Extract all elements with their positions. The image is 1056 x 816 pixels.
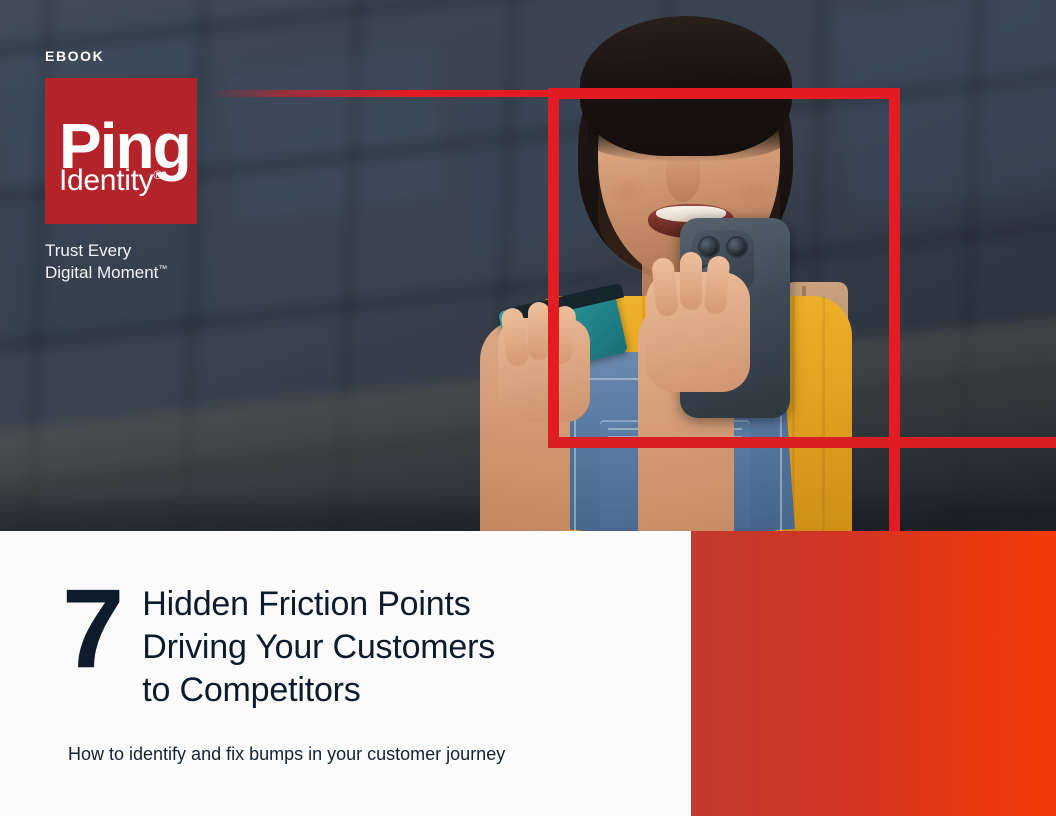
tagline-line-1: Trust Every [45, 240, 305, 262]
headline-line-2: Driving Your Customers [142, 626, 495, 669]
hand-right-holding-phone [646, 272, 750, 392]
registered-mark: ® [153, 168, 162, 182]
title-block: 7 Hidden Friction Points Driving Your Cu… [62, 583, 672, 711]
frame-top-bar [548, 88, 900, 99]
red-accent-panel [691, 531, 1056, 816]
ebook-cover-page: KAU [0, 0, 1056, 816]
eyebrow-label: EBOOK [45, 48, 305, 64]
cheek-right [734, 178, 774, 204]
title-headline: Hidden Friction Points Driving Your Cust… [142, 583, 495, 711]
hair-bangs-edge [588, 122, 784, 162]
tagline-line-2: Digital Moment™ [45, 262, 305, 284]
headline-line-3: to Competitors [142, 669, 495, 712]
brand-block: EBOOK Ping Identity® Trust Every Digital… [45, 48, 305, 284]
trademark-mark: ™ [158, 263, 167, 273]
subtitle: How to identify and fix bumps in your cu… [68, 744, 505, 765]
logo-word-identity: Identity® [59, 166, 162, 196]
logo-identity-text: Identity [59, 164, 153, 197]
hand-left-holding-card [498, 318, 590, 422]
cheek-left [608, 178, 648, 204]
headline-line-1: Hidden Friction Points [142, 583, 495, 626]
brand-tagline: Trust Every Digital Moment™ [45, 240, 305, 284]
tagline-line-2-text: Digital Moment [45, 263, 158, 282]
frame-right-bar [889, 88, 900, 531]
ping-identity-logo: Ping Identity® [45, 78, 197, 224]
hero-image: KAU [0, 0, 1056, 531]
hero-subject-person [470, 0, 940, 531]
title-number: 7 [62, 577, 120, 711]
frame-bottom-bar [548, 437, 1056, 448]
frame-left-bar [548, 88, 559, 448]
